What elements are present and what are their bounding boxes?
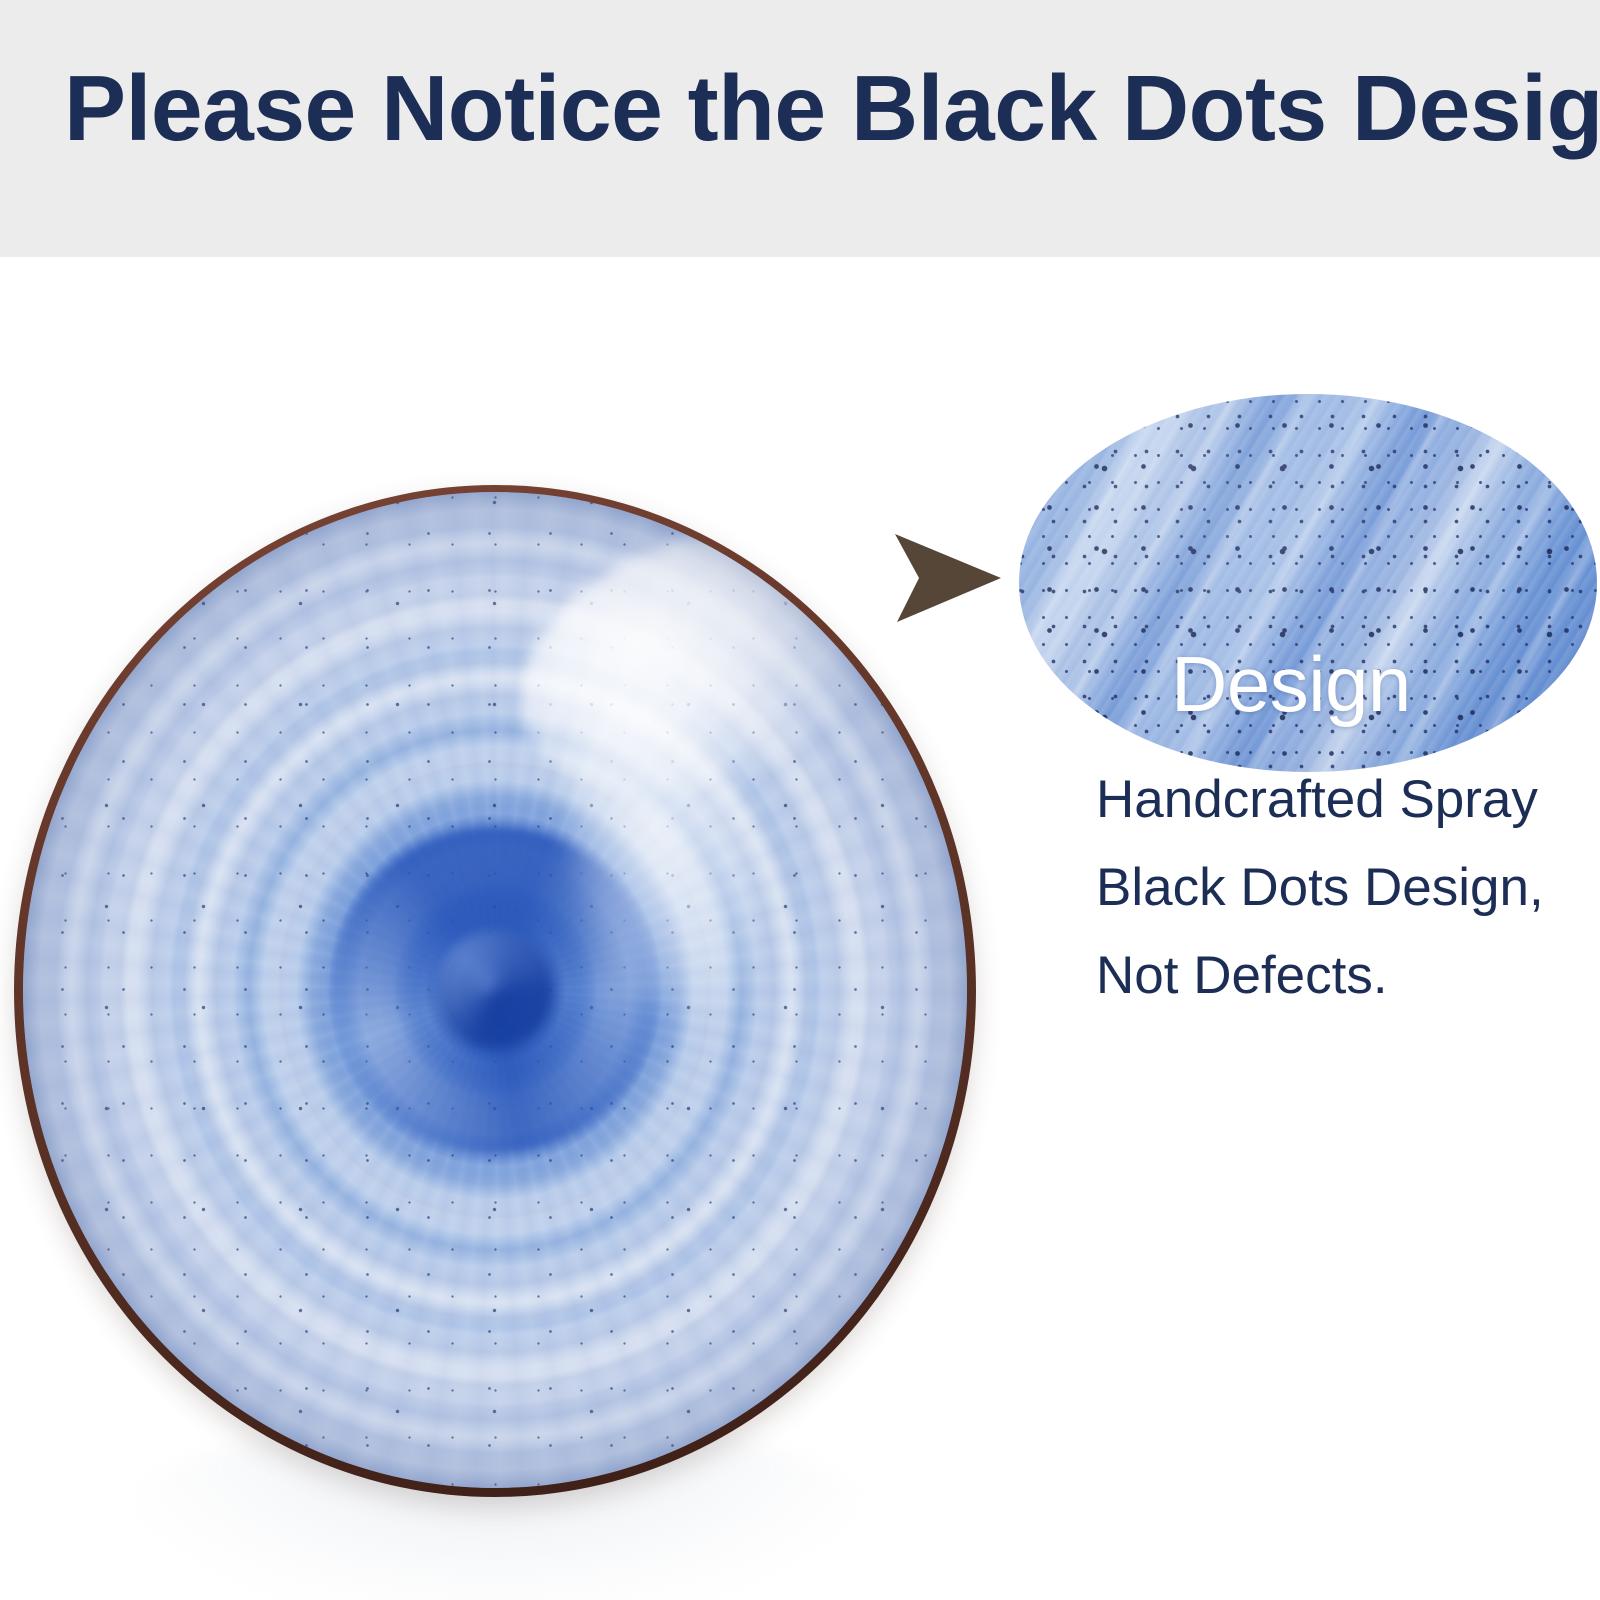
promo-image-canvas: Please Notice the Black Dots Design bbox=[0, 0, 1600, 1600]
product-plate-image bbox=[14, 485, 976, 1497]
description-line-2: Black Dots Design, bbox=[1096, 844, 1576, 932]
description-line-3: Not Defects. bbox=[1096, 932, 1576, 1020]
plate-rim bbox=[14, 485, 976, 1497]
callout-label: Design bbox=[1171, 645, 1411, 723]
arrow-right-icon bbox=[893, 530, 1001, 624]
description-block: Handcrafted Spray Black Dots Design, Not… bbox=[1096, 756, 1576, 1020]
header-band: Please Notice the Black Dots Design bbox=[0, 0, 1600, 257]
plate-edge-shading bbox=[23, 492, 967, 1488]
description-line-1: Handcrafted Spray bbox=[1096, 756, 1576, 844]
plate-glaze-surface bbox=[23, 492, 967, 1488]
page-title: Please Notice the Black Dots Design bbox=[64, 62, 1544, 155]
